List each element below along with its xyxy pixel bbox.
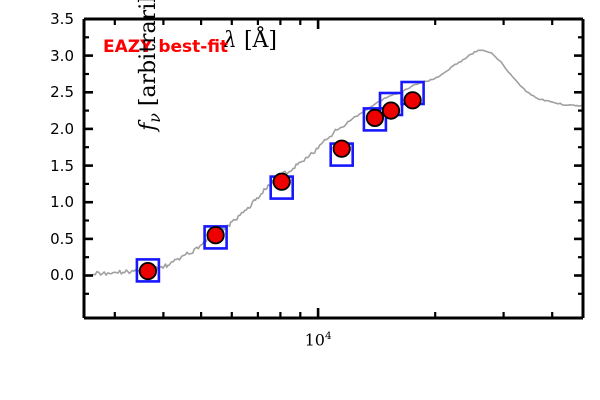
y-axis-label-f: f [136, 123, 161, 131]
x-tick-exponent: 4 [325, 330, 332, 342]
y-tick-label: 0.5 [32, 230, 74, 248]
y-axis-label: fν [arbitrarily scaled] [136, 0, 164, 164]
observed-photometry-markers [140, 92, 421, 279]
y-tick-label: 3.5 [32, 10, 74, 28]
figure-canvas: EAZY best-fit fν [arbitrarily scaled] λ … [0, 0, 600, 400]
x-tick-label-1e4: 104 [288, 330, 348, 349]
observed-photometry-point [207, 227, 223, 243]
y-tick-label: 1.5 [32, 157, 74, 175]
observed-photometry-point [404, 92, 420, 108]
y-tick-label: 1.0 [32, 193, 74, 211]
observed-photometry-point [274, 174, 290, 190]
y-axis-label-rest: [arbitrarily scaled] [136, 0, 161, 113]
y-tick-label: 0.0 [32, 266, 74, 284]
x-tick-mantissa: 10 [305, 330, 325, 349]
y-tick-label: 2.0 [32, 120, 74, 138]
observed-photometry-point [140, 263, 156, 279]
y-axis-label-subscript: ν [145, 113, 164, 123]
y-tick-label: 3.0 [32, 47, 74, 65]
y-tick-label: 2.5 [32, 83, 74, 101]
annotation-eazy-best-fit: EAZY best-fit [103, 37, 228, 57]
observed-photometry-point [383, 102, 399, 118]
observed-photometry-point [334, 141, 350, 157]
observed-photometry-point [367, 110, 383, 126]
